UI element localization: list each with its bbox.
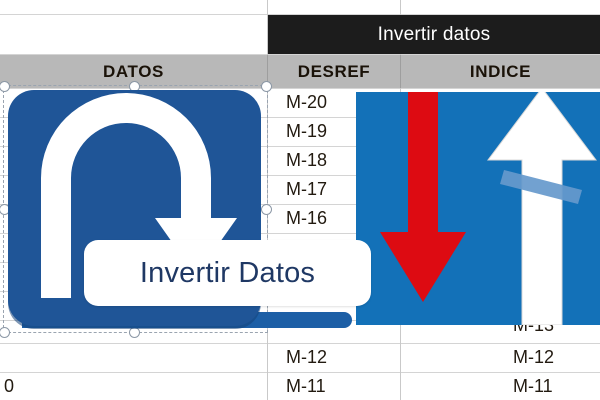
cell-desref[interactable]: M-11 xyxy=(286,372,326,400)
cell-indice[interactable]: M-11 xyxy=(513,372,553,400)
column-header-indice[interactable]: INDICE xyxy=(401,55,600,88)
cell-desref[interactable]: M-19 xyxy=(286,117,327,146)
pill-label: Invertir Datos xyxy=(140,257,315,290)
resize-handle-ne[interactable] xyxy=(261,81,272,92)
invert-arrows-graphic xyxy=(356,92,600,325)
arrow-up-icon xyxy=(488,92,596,325)
cell-datos[interactable]: 0 xyxy=(4,372,14,400)
cell-desref[interactable]: M-18 xyxy=(286,146,327,175)
banner-invertir-datos: Invertir datos xyxy=(268,15,600,54)
resize-handle-e[interactable] xyxy=(261,204,272,215)
cell-desref[interactable]: M-12 xyxy=(286,343,327,372)
screenshot-root: M-20 M-19 M-18 M-17 M-16 M-15 M-14 M-13 … xyxy=(0,0,600,400)
resize-handle-s[interactable] xyxy=(129,327,140,338)
cell-desref[interactable]: M-17 xyxy=(286,175,327,204)
header-separator xyxy=(400,55,401,88)
cell-desref[interactable]: M-16 xyxy=(286,204,327,233)
column-header-desref[interactable]: DESREF xyxy=(268,55,400,88)
invertir-datos-pill[interactable]: Invertir Datos xyxy=(84,240,371,306)
cell-desref[interactable]: M-20 xyxy=(286,88,327,117)
banner-title: Invertir datos xyxy=(378,24,491,46)
arrow-down-icon xyxy=(380,92,466,302)
cell-indice[interactable]: M-12 xyxy=(513,343,554,372)
